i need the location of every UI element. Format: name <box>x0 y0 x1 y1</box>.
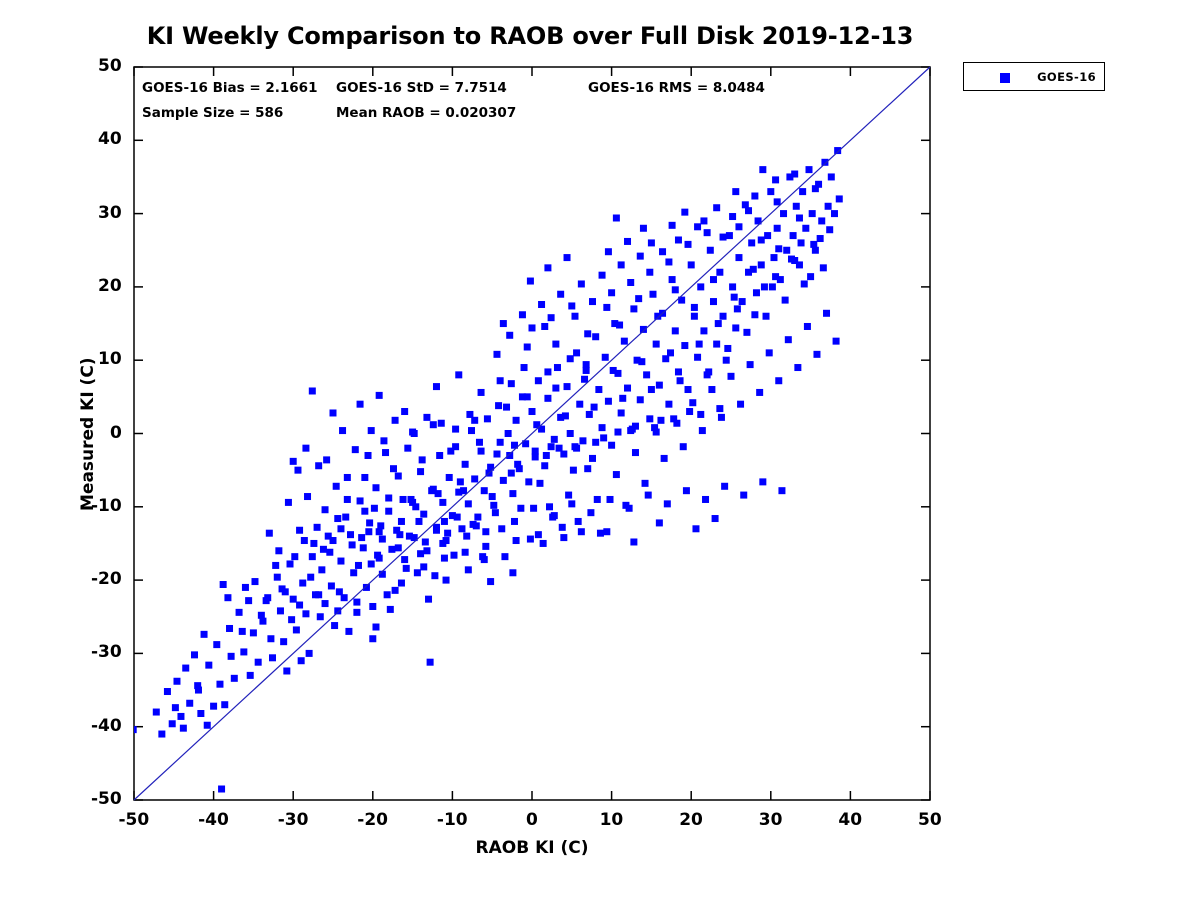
data-point <box>731 294 738 301</box>
data-point <box>798 239 805 246</box>
data-point <box>430 421 437 428</box>
data-point <box>484 415 491 422</box>
x-tick-label: 0 <box>526 810 538 830</box>
data-point <box>398 580 405 587</box>
data-point <box>493 351 500 358</box>
data-point <box>729 283 736 290</box>
data-point <box>191 651 198 658</box>
y-tick-label: -10 <box>91 496 122 516</box>
data-point <box>201 631 208 638</box>
data-point <box>498 525 505 532</box>
data-point <box>568 500 575 507</box>
data-point <box>616 322 623 329</box>
data-point <box>422 538 429 545</box>
data-point <box>546 503 553 510</box>
data-point <box>592 439 599 446</box>
data-point <box>823 310 830 317</box>
data-point <box>564 383 571 390</box>
data-point <box>618 409 625 416</box>
data-point <box>420 563 427 570</box>
data-point <box>716 405 723 412</box>
data-point <box>772 176 779 183</box>
data-point <box>444 530 451 537</box>
data-point <box>683 487 690 494</box>
data-point <box>280 638 287 645</box>
data-point <box>624 385 631 392</box>
data-point <box>527 536 534 543</box>
data-point <box>664 500 671 507</box>
data-point <box>589 455 596 462</box>
data-point <box>226 625 233 632</box>
data-point <box>334 515 341 522</box>
data-point <box>630 538 637 545</box>
data-point <box>433 383 440 390</box>
data-point <box>541 323 548 330</box>
data-point <box>618 261 625 268</box>
data-point <box>778 487 785 494</box>
data-point <box>613 214 620 221</box>
data-point <box>691 304 698 311</box>
data-point <box>513 537 520 544</box>
data-point <box>791 171 798 178</box>
data-point <box>732 324 739 331</box>
data-point <box>720 313 727 320</box>
data-point <box>828 173 835 180</box>
data-point <box>361 508 368 515</box>
data-point <box>465 566 472 573</box>
data-point <box>603 304 610 311</box>
legend[interactable]: GOES-16 <box>963 62 1105 91</box>
data-point <box>750 266 757 273</box>
data-point <box>210 703 217 710</box>
data-point <box>707 247 714 254</box>
data-point <box>365 452 372 459</box>
data-point <box>734 305 741 312</box>
data-point <box>564 254 571 261</box>
data-point <box>298 657 305 664</box>
data-point <box>535 531 542 538</box>
data-point <box>360 544 367 551</box>
x-tick-label: -50 <box>119 810 150 830</box>
data-point <box>535 377 542 384</box>
data-point <box>228 653 235 660</box>
data-point <box>782 297 789 304</box>
data-point <box>339 427 346 434</box>
data-point <box>419 456 426 463</box>
data-point <box>487 578 494 585</box>
data-point <box>637 396 644 403</box>
data-point <box>505 430 512 437</box>
data-point <box>471 475 478 482</box>
data-point <box>514 461 521 468</box>
data-point <box>796 214 803 221</box>
data-point <box>495 402 502 409</box>
data-point <box>396 531 403 538</box>
data-point <box>368 427 375 434</box>
data-point <box>471 417 478 424</box>
data-point <box>656 519 663 526</box>
y-tick-label: -40 <box>91 716 122 736</box>
data-point <box>608 289 615 296</box>
data-point <box>716 269 723 276</box>
data-point <box>344 474 351 481</box>
data-point <box>767 188 774 195</box>
data-point <box>473 522 480 529</box>
data-point <box>221 701 228 708</box>
data-point <box>274 574 281 581</box>
data-point <box>646 269 653 276</box>
data-point <box>554 364 561 371</box>
data-point <box>817 235 824 242</box>
data-point <box>390 465 397 472</box>
data-point <box>638 358 645 365</box>
data-point <box>729 213 736 220</box>
data-point <box>497 439 504 446</box>
data-point <box>672 286 679 293</box>
data-point <box>560 534 567 541</box>
data-point <box>524 344 531 351</box>
data-point <box>455 371 462 378</box>
data-point <box>665 401 672 408</box>
data-point <box>290 458 297 465</box>
data-point <box>772 273 779 280</box>
data-point <box>194 682 201 689</box>
data-point <box>605 248 612 255</box>
data-point <box>423 414 430 421</box>
data-point <box>177 713 184 720</box>
data-point <box>775 245 782 252</box>
data-point <box>649 291 656 298</box>
data-point <box>337 558 344 565</box>
data-point <box>605 398 612 405</box>
data-point <box>552 341 559 348</box>
data-point <box>406 533 413 540</box>
data-point <box>282 588 289 595</box>
data-point <box>489 493 496 500</box>
data-point <box>643 371 650 378</box>
data-point <box>696 341 703 348</box>
data-point <box>584 465 591 472</box>
data-point <box>462 461 469 468</box>
data-point <box>645 492 652 499</box>
data-point <box>294 467 301 474</box>
data-point <box>443 577 450 584</box>
data-point <box>836 195 843 202</box>
data-point <box>543 452 550 459</box>
data-point <box>697 283 704 290</box>
data-point <box>793 203 800 210</box>
data-point <box>409 499 416 506</box>
data-point <box>344 496 351 503</box>
data-point <box>272 562 279 569</box>
data-point <box>544 264 551 271</box>
data-point <box>718 414 725 421</box>
data-point <box>681 342 688 349</box>
data-point <box>306 650 313 657</box>
data-point <box>267 635 274 642</box>
scatter-plot-svg <box>0 0 1200 900</box>
data-point <box>372 484 379 491</box>
data-point <box>700 327 707 334</box>
data-point <box>323 456 330 463</box>
data-point <box>275 547 282 554</box>
y-tick-label: 40 <box>98 129 122 149</box>
data-point <box>769 283 776 290</box>
data-point <box>431 572 438 579</box>
data-point <box>583 361 590 368</box>
data-point <box>653 429 660 436</box>
data-point <box>591 404 598 411</box>
data-point <box>675 368 682 375</box>
data-point <box>759 166 766 173</box>
data-point <box>685 386 692 393</box>
data-point <box>610 367 617 374</box>
data-point <box>770 254 777 261</box>
x-tick-label: 40 <box>838 810 862 830</box>
data-point <box>369 635 376 642</box>
data-point <box>626 505 633 512</box>
data-point <box>713 341 720 348</box>
data-point <box>692 525 699 532</box>
data-point <box>353 609 360 616</box>
data-point <box>758 236 765 243</box>
stat-bias: GOES-16 Bias = 2.1661 <box>142 80 317 96</box>
data-point <box>688 261 695 268</box>
data-point <box>366 519 373 526</box>
data-point <box>197 710 204 717</box>
data-point <box>739 298 746 305</box>
data-point <box>385 495 392 502</box>
data-point <box>277 607 284 614</box>
data-point <box>395 544 402 551</box>
data-point <box>680 443 687 450</box>
data-point <box>411 430 418 437</box>
data-point <box>790 232 797 239</box>
data-point <box>812 185 819 192</box>
data-point <box>673 420 680 427</box>
data-point <box>806 166 813 173</box>
data-point <box>357 497 364 504</box>
data-point <box>331 622 338 629</box>
data-point <box>751 193 758 200</box>
data-point <box>446 474 453 481</box>
data-point <box>804 323 811 330</box>
data-point <box>509 569 516 576</box>
data-point <box>333 483 340 490</box>
data-point <box>529 324 536 331</box>
data-point <box>833 338 840 345</box>
data-point <box>500 477 507 484</box>
data-point <box>349 541 356 548</box>
data-point <box>317 613 324 620</box>
data-point <box>478 448 485 455</box>
data-point <box>630 305 637 312</box>
data-point <box>314 524 321 531</box>
data-point <box>721 483 728 490</box>
data-point <box>425 596 432 603</box>
data-point <box>476 439 483 446</box>
data-point <box>417 550 424 557</box>
data-point <box>153 709 160 716</box>
data-point <box>576 401 583 408</box>
data-point <box>439 540 446 547</box>
data-point <box>296 602 303 609</box>
data-point <box>420 511 427 518</box>
data-point <box>216 681 223 688</box>
data-point <box>713 204 720 211</box>
data-point <box>723 357 730 364</box>
data-point <box>503 404 510 411</box>
data-point <box>302 445 309 452</box>
data-point <box>423 547 430 554</box>
data-point <box>538 301 545 308</box>
data-point <box>661 455 668 462</box>
data-point <box>579 437 586 444</box>
data-point <box>371 505 378 512</box>
data-point <box>681 209 688 216</box>
data-point <box>368 560 375 567</box>
data-point <box>204 722 211 729</box>
data-point <box>710 276 717 283</box>
data-point <box>559 524 566 531</box>
data-point <box>756 389 763 396</box>
data-point <box>578 528 585 535</box>
data-point <box>376 555 383 562</box>
data-point <box>450 552 457 559</box>
data-point <box>801 280 808 287</box>
data-point <box>656 382 663 389</box>
data-point <box>595 386 602 393</box>
data-point <box>813 351 820 358</box>
data-point <box>376 392 383 399</box>
data-point <box>290 596 297 603</box>
data-point <box>524 393 531 400</box>
data-point <box>392 417 399 424</box>
data-point <box>506 332 513 339</box>
data-point <box>182 665 189 672</box>
data-point <box>497 377 504 384</box>
data-point <box>751 311 758 318</box>
data-point <box>250 629 257 636</box>
data-point <box>659 248 666 255</box>
data-point <box>501 553 508 560</box>
data-point <box>567 355 574 362</box>
data-point <box>158 731 165 738</box>
data-point <box>544 368 551 375</box>
data-point <box>694 223 701 230</box>
data-point <box>540 540 547 547</box>
data-point <box>309 553 316 560</box>
data-point <box>603 528 610 535</box>
data-point <box>747 361 754 368</box>
data-point <box>474 514 481 521</box>
data-point <box>675 236 682 243</box>
data-point <box>614 429 621 436</box>
legend-swatch-goes16 <box>1000 73 1010 83</box>
data-point <box>573 445 580 452</box>
data-point <box>825 203 832 210</box>
y-tick-label: 10 <box>98 349 122 369</box>
data-point <box>481 487 488 494</box>
data-point <box>468 427 475 434</box>
data-point <box>642 480 649 487</box>
data-point <box>347 531 354 538</box>
data-point <box>672 327 679 334</box>
data-point <box>697 411 704 418</box>
data-point <box>509 490 516 497</box>
data-point <box>608 442 615 449</box>
data-point <box>490 502 497 509</box>
data-point <box>570 467 577 474</box>
data-point <box>726 232 733 239</box>
data-point <box>433 527 440 534</box>
data-point <box>454 514 461 521</box>
data-point <box>774 225 781 232</box>
x-tick-label: 10 <box>600 810 624 830</box>
data-point <box>820 264 827 271</box>
data-point <box>517 505 524 512</box>
data-point <box>384 591 391 598</box>
data-point <box>508 470 515 477</box>
data-point <box>186 700 193 707</box>
data-point <box>724 345 731 352</box>
data-point <box>735 223 742 230</box>
data-point <box>635 295 642 302</box>
data-point <box>307 574 314 581</box>
data-point <box>619 395 626 402</box>
data-point <box>758 261 765 268</box>
data-point <box>291 553 298 560</box>
data-point <box>169 720 176 727</box>
data-point <box>460 487 467 494</box>
data-point <box>330 409 337 416</box>
data-point <box>549 514 556 521</box>
data-point <box>269 654 276 661</box>
data-point <box>794 364 801 371</box>
data-point <box>130 726 137 733</box>
data-point <box>263 597 270 604</box>
data-point <box>318 566 325 573</box>
data-point <box>575 518 582 525</box>
data-point <box>465 500 472 507</box>
data-point <box>602 354 609 361</box>
data-point <box>395 473 402 480</box>
data-point <box>266 530 273 537</box>
data-point <box>337 525 344 532</box>
data-point <box>361 474 368 481</box>
data-point <box>342 514 349 521</box>
data-point <box>285 499 292 506</box>
data-point <box>818 217 825 224</box>
data-point <box>624 238 631 245</box>
x-tick-label: -30 <box>278 810 309 830</box>
data-point <box>648 386 655 393</box>
data-point <box>735 254 742 261</box>
stat-rms: GOES-16 RMS = 8.0484 <box>588 80 765 96</box>
data-point <box>435 490 442 497</box>
data-point <box>365 528 372 535</box>
data-point <box>302 610 309 617</box>
data-point <box>296 527 303 534</box>
x-tick-label: -10 <box>437 810 468 830</box>
data-point <box>573 349 580 356</box>
data-point <box>599 272 606 279</box>
data-point <box>653 341 660 348</box>
data-point <box>357 401 364 408</box>
data-point <box>548 443 555 450</box>
y-axis-title: Measured KI (C) <box>78 357 98 511</box>
data-point <box>452 426 459 433</box>
